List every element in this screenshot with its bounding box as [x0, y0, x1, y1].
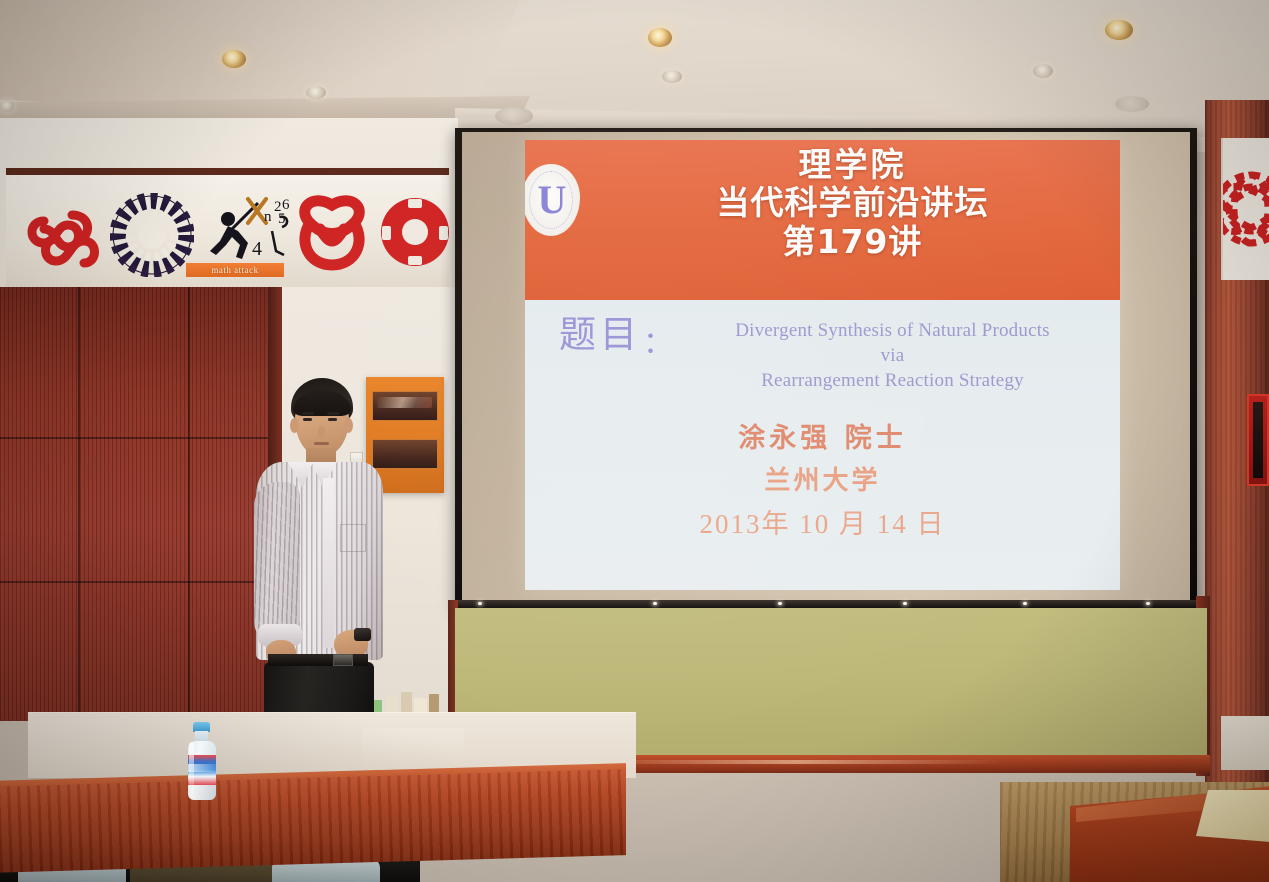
ceiling-speaker-icon [495, 107, 533, 125]
shirt-placket [323, 478, 334, 648]
torus-ring-icon [378, 195, 449, 269]
downlight-icon [306, 86, 326, 99]
banner-label: math attack [186, 263, 284, 277]
lecture-date: 2013年 10 月 14 日 [525, 503, 1120, 546]
eyebrow-right [327, 412, 339, 415]
svg-text:4: 4 [252, 238, 262, 260]
downlight-icon [222, 50, 246, 68]
svg-text:n: n [264, 209, 272, 225]
topic-text-line2: via [881, 345, 905, 366]
presentation-clicker[interactable] [354, 628, 371, 641]
belt-buckle [333, 654, 353, 666]
nose [318, 426, 325, 438]
slide-body: 题目 ： Divergent Synthesis of Natural Prod… [525, 300, 1120, 590]
checkered-torus-icon [110, 193, 194, 277]
right-decorative-panel [1221, 138, 1269, 280]
university-logo-icon: U [525, 164, 580, 236]
topic-label: 题目 [559, 312, 641, 353]
water-bottle[interactable] [185, 722, 219, 800]
ear-left [290, 418, 299, 433]
topic-text-line1: Divergent Synthesis of Natural Products [735, 320, 1050, 341]
slide-title-block: 理学院 当代科学前沿讲坛 第179讲 [585, 146, 1120, 261]
desk-front [0, 769, 626, 873]
math-banner: n2 65 4 math att [6, 168, 449, 287]
downlight-icon [0, 100, 14, 112]
ear-right [344, 418, 353, 433]
math-figure-icon: n2 65 4 [202, 189, 296, 269]
right-wall-strip [1221, 716, 1269, 770]
celtic-knot-icon [1221, 156, 1269, 262]
fire-alarm-box[interactable] [1247, 394, 1269, 486]
arm-left [254, 482, 300, 642]
speaker-name: 涂永强 院士 [525, 418, 1120, 460]
speaker-organization: 兰州大学 [525, 460, 1120, 503]
bottle-highlight [189, 742, 194, 796]
eye-left [303, 418, 312, 421]
slide-title-line1: 理学院 [585, 146, 1120, 184]
topic-colon: ： [641, 312, 675, 362]
knot-loops-icon [22, 197, 108, 275]
downlight-icon [648, 28, 672, 47]
shirt-pocket [340, 524, 366, 552]
topic-row: 题目 ： Divergent Synthesis of Natural Prod… [559, 312, 1110, 393]
mouth [314, 442, 329, 445]
eye-right [328, 418, 337, 421]
downlight-icon [1105, 20, 1133, 40]
lecture-hall-photo: n2 65 4 math att [0, 0, 1269, 882]
speaker-block: 涂永强 院士 兰州大学 2013年 10 月 14 日 [525, 418, 1120, 546]
slide-header: U 理学院 当代科学前沿讲坛 第179讲 [525, 140, 1120, 300]
ceiling-speaker-icon [1115, 96, 1149, 112]
projected-slide: U 理学院 当代科学前沿讲坛 第179讲 题目 ： Divergent Synt… [525, 140, 1120, 590]
wood-wall-left [0, 287, 272, 721]
svg-text:5: 5 [278, 211, 286, 227]
downlight-icon [662, 70, 682, 83]
eyebrow-left [302, 412, 314, 415]
topic-text-line3: Rearrangement Reaction Strategy [761, 370, 1024, 391]
downlight-icon [1033, 64, 1053, 78]
topic-text: Divergent Synthesis of Natural Products … [675, 312, 1110, 393]
belt [268, 654, 368, 666]
screen-bottom-bar [458, 600, 1198, 608]
trefoil-knot-icon [290, 189, 374, 275]
paper-sheet-on-desk[interactable] [1196, 790, 1269, 842]
slide-title-line2: 当代科学前沿讲坛 [585, 184, 1120, 222]
slide-title-line3: 第179讲 [585, 223, 1120, 261]
